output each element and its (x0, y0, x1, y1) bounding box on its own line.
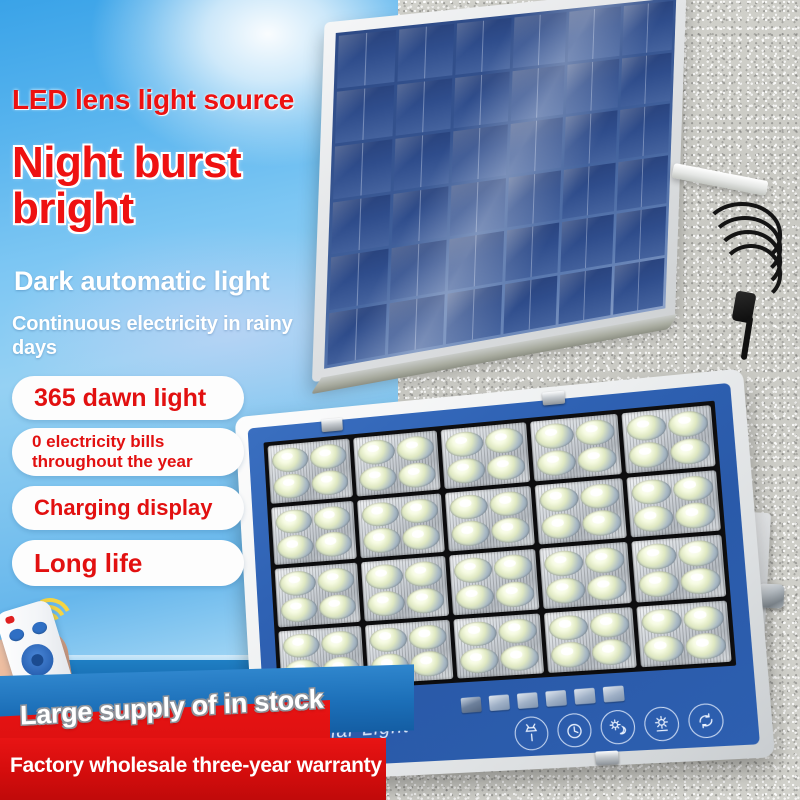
led-lens (455, 583, 495, 611)
battery-segment (461, 697, 482, 714)
led-lens (458, 620, 498, 647)
led-module (544, 607, 637, 673)
led-lens (548, 614, 589, 642)
headline-dark-automatic-light: Dark automatic light (14, 266, 270, 297)
solar-cell (395, 78, 452, 136)
led-lens (491, 516, 531, 544)
led-lens (495, 580, 535, 608)
led-module (445, 485, 535, 551)
solar-cell (333, 139, 392, 199)
solar-cell (329, 249, 388, 310)
solar-cell (512, 12, 566, 68)
led-module (357, 493, 445, 558)
solar-cell (452, 124, 508, 182)
badge-charging-display: Charging display (12, 486, 244, 530)
led-lens (579, 482, 620, 510)
solar-cell (622, 1, 674, 55)
led-lens (486, 453, 526, 481)
led-lens (410, 650, 449, 677)
led-lens (400, 497, 439, 524)
solar-cell (566, 58, 619, 114)
led-lens (589, 611, 630, 639)
battery-segment (574, 688, 596, 705)
solar-cell (510, 65, 564, 121)
solar-cell (560, 214, 613, 271)
headline-night-burst-bright: Night burst bright (12, 140, 292, 232)
led-lens (677, 539, 719, 567)
solar-cell (335, 85, 394, 144)
led-lens (363, 527, 402, 554)
banner-warranty-text: Factory wholesale three-year warranty (10, 754, 382, 778)
solar-panel-frame (312, 0, 687, 382)
solar-cell (455, 18, 511, 75)
solar-cell (453, 71, 509, 128)
led-lens (396, 435, 435, 463)
led-lens (584, 546, 625, 574)
led-lens (498, 617, 538, 645)
led-lens (628, 440, 669, 468)
led-module-grid (263, 401, 736, 694)
solar-panel-product (312, 0, 687, 382)
battery-segment (489, 694, 510, 711)
led-lens (365, 563, 404, 590)
led-lens (536, 449, 576, 477)
led-lens (408, 623, 447, 650)
led-lens (447, 457, 486, 485)
day-night-sensor-icon (599, 709, 636, 745)
led-lens (626, 413, 667, 441)
badge-long-life: Long life (12, 540, 244, 586)
solar-cell (327, 303, 386, 365)
led-lens (534, 422, 574, 450)
led-lens (669, 437, 711, 466)
led-lens (539, 485, 579, 513)
recycle-icon (687, 702, 725, 739)
led-lens (309, 443, 347, 470)
solar-cell (393, 132, 450, 191)
badge-365-dawn-light: 365 dawn light (12, 376, 244, 420)
solar-cell (509, 117, 563, 174)
led-lens (398, 461, 437, 489)
led-module (636, 600, 731, 667)
battery-segment (517, 692, 539, 709)
led-module (539, 542, 632, 609)
sun-solar-icon (643, 706, 681, 743)
led-lens (279, 570, 317, 597)
led-lens (636, 542, 678, 570)
led-lens (404, 560, 443, 587)
led-lens (280, 596, 318, 623)
solar-cell (331, 194, 390, 254)
solar-cell (503, 275, 557, 334)
led-lens (317, 567, 355, 594)
led-module (441, 422, 531, 488)
led-lens (453, 556, 493, 584)
feature-icon-row (513, 702, 725, 751)
led-lens (493, 553, 533, 581)
led-module (631, 535, 726, 603)
led-module (361, 556, 449, 621)
led-lens (402, 524, 441, 551)
solar-cell (558, 266, 611, 324)
led-lens (313, 505, 351, 532)
led-lens (674, 501, 716, 529)
remote-led-indicator (5, 615, 16, 624)
housing-clip (542, 391, 565, 406)
led-module (275, 563, 361, 627)
led-lens (311, 469, 349, 496)
led-module (621, 405, 715, 473)
led-module (535, 478, 627, 545)
battery-level-indicator (461, 686, 625, 714)
battery-segment (603, 686, 625, 703)
solar-cell (397, 24, 454, 81)
solar-cell (620, 52, 672, 107)
led-module (353, 430, 440, 496)
led-lens (489, 490, 529, 518)
led-lens (545, 576, 586, 604)
led-lens (271, 446, 308, 473)
solar-cell (614, 206, 666, 263)
led-lens (643, 635, 685, 663)
solar-cell (450, 178, 506, 236)
led-lens (315, 531, 353, 558)
led-module (453, 613, 544, 679)
solar-cell (613, 257, 665, 314)
product-banner: Solar Light (0, 0, 800, 800)
headline-continuous-electricity: Continuous electricity in rainy days (12, 312, 312, 360)
led-lens (591, 638, 632, 666)
led-lens (541, 512, 581, 540)
led-lens (282, 632, 320, 659)
led-lens (672, 474, 714, 503)
solar-cell (507, 170, 561, 228)
solar-cell (387, 294, 444, 355)
headline-led-lens: LED lens light source (12, 84, 294, 116)
led-lens (577, 445, 618, 473)
led-lens (318, 593, 356, 620)
led-lens (641, 607, 683, 635)
timer-clock-icon (556, 712, 593, 748)
solar-cell (448, 231, 504, 290)
led-module (267, 438, 352, 503)
power-cable-bundle (700, 196, 800, 346)
solar-cell (505, 223, 559, 281)
led-lens (369, 626, 408, 653)
remote-button (8, 627, 26, 643)
led-lens (484, 426, 524, 454)
led-module (626, 470, 721, 538)
led-lens (359, 464, 397, 491)
led-lens (321, 629, 359, 656)
solar-cell (564, 110, 617, 166)
led-module (530, 414, 622, 481)
led-lens (277, 534, 315, 561)
led-module (449, 549, 539, 615)
led-lens (445, 430, 484, 458)
solar-cell (562, 162, 615, 219)
led-lens (499, 644, 539, 672)
solar-cell (389, 240, 446, 300)
led-lens (685, 632, 727, 660)
badge-zero-electricity-bills: 0 electricity bills throughout the year (12, 428, 244, 476)
led-lens (550, 641, 591, 669)
led-lens (631, 478, 672, 506)
led-lens (451, 520, 490, 548)
solar-cell (446, 284, 502, 344)
led-lens (575, 418, 616, 446)
solar-panel-cell-grid (324, 0, 676, 369)
led-lens (459, 647, 499, 674)
led-lens (273, 472, 310, 499)
led-lens (275, 508, 313, 535)
led-lens (638, 570, 680, 598)
led-lens (449, 493, 488, 521)
led-lens (667, 410, 709, 439)
remote-button (31, 620, 49, 636)
led-lens (683, 604, 725, 632)
lamp-post-icon (513, 715, 550, 751)
solar-cell (568, 6, 621, 61)
led-lens (633, 505, 674, 533)
solar-cell (618, 104, 670, 159)
led-lens (367, 590, 406, 617)
battery-segment (545, 690, 567, 707)
led-lens (406, 587, 445, 614)
led-lens (543, 549, 584, 577)
housing-clip (321, 418, 343, 433)
solar-cell (616, 155, 668, 211)
solar-cell (391, 186, 448, 245)
solar-cell (337, 30, 396, 88)
led-lens (361, 500, 399, 527)
led-lens (357, 438, 395, 465)
led-lens (586, 573, 627, 601)
led-module (271, 500, 357, 565)
led-lens (680, 567, 722, 595)
led-lens (581, 509, 622, 537)
